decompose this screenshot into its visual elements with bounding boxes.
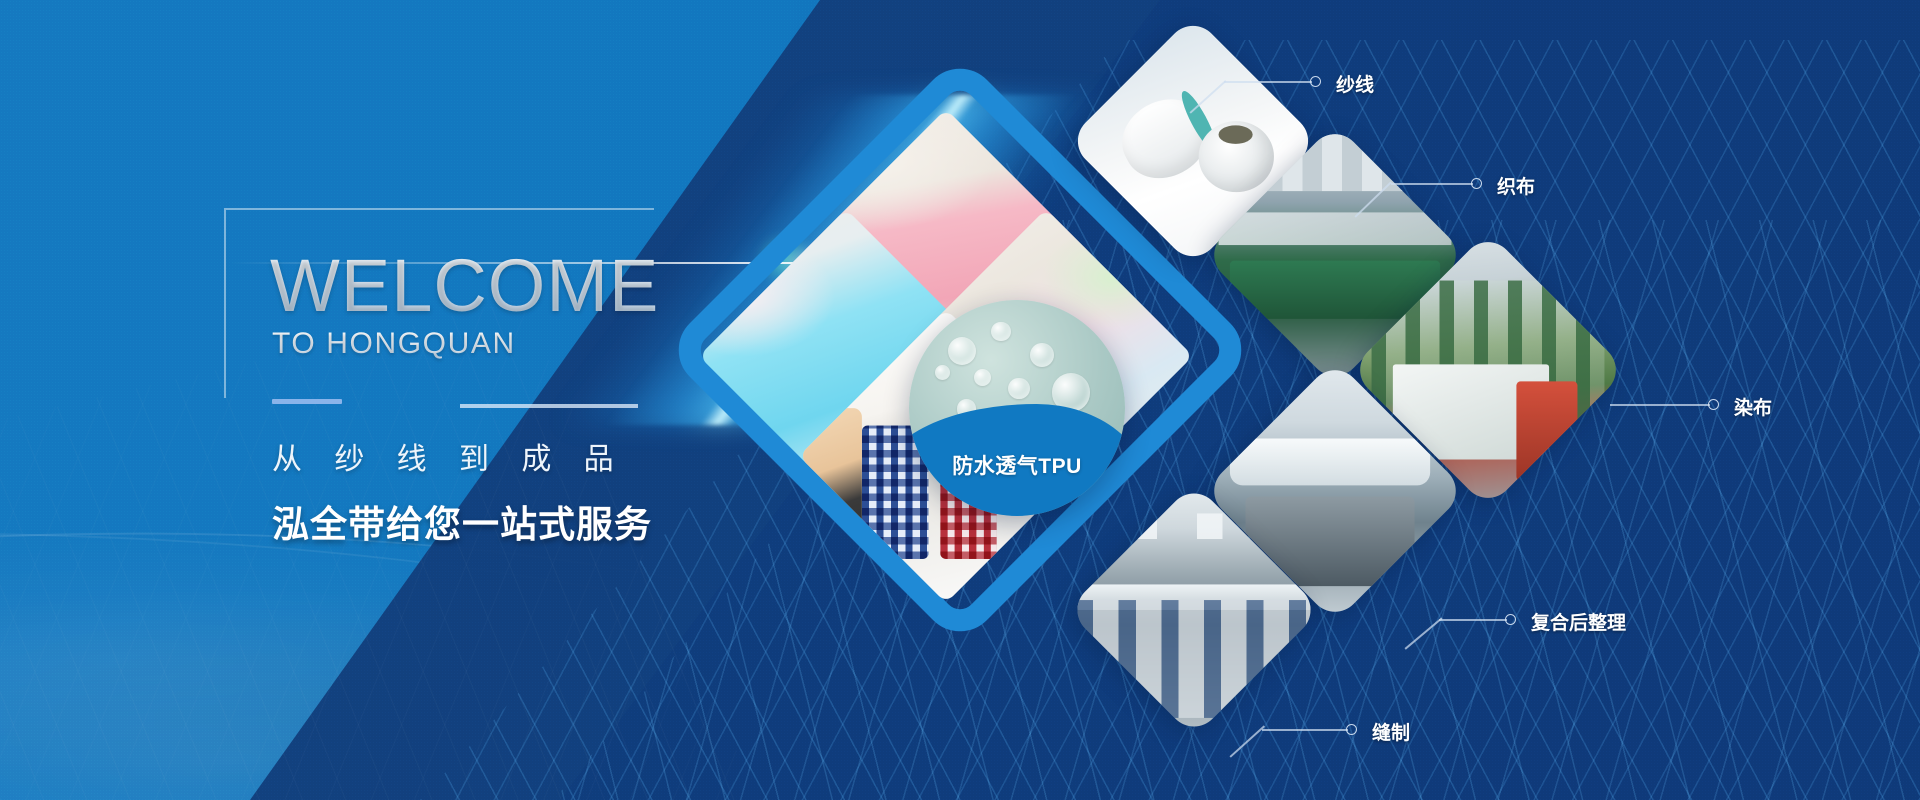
callout-leader-diagonal <box>1354 181 1391 217</box>
divider-long <box>460 404 638 408</box>
callout-label: 缝制 <box>1372 718 1410 745</box>
divider-short <box>272 399 342 404</box>
callout-leader <box>1262 729 1348 731</box>
droplet <box>935 365 950 380</box>
callout-dyeing: 染布 <box>1610 393 1920 443</box>
callout-label: 织布 <box>1497 172 1535 199</box>
callout-lamination: 复合后整理 <box>1405 608 1805 658</box>
callout-leader-diagonal <box>1229 725 1264 757</box>
callout-yarn: 纱线 <box>1190 70 1550 120</box>
laminating-roller <box>1229 438 1430 486</box>
callout-label: 纱线 <box>1336 70 1374 97</box>
droplet <box>1008 378 1030 400</box>
callout-dot <box>1310 76 1321 87</box>
droplet <box>991 322 1010 341</box>
callout-leader <box>1610 404 1710 406</box>
callout-dot <box>1505 614 1516 625</box>
callout-leader <box>1391 183 1473 185</box>
callout-dot <box>1471 178 1482 189</box>
callout-sewing: 缝制 <box>1230 718 1590 768</box>
tpu-badge: 防水透气TPU <box>909 300 1125 516</box>
yarn-ball <box>1198 121 1274 192</box>
callout-label: 染布 <box>1734 393 1772 420</box>
droplet <box>948 337 976 365</box>
callout-weaving: 织布 <box>1355 172 1715 222</box>
corner-bracket <box>224 208 654 398</box>
hero-banner: WELCOME TO HONGQUAN 从 纱 线 到 成 品 泓全带给您一站式… <box>0 0 1920 800</box>
callout-dot <box>1708 399 1719 410</box>
badge-label: 防水透气TPU <box>909 450 1125 480</box>
red-fabric <box>1516 381 1577 481</box>
callout-leader-diagonal <box>1189 80 1226 113</box>
callout-dot <box>1346 724 1357 735</box>
worker-rows <box>1076 600 1311 718</box>
callout-leader-diagonal <box>1405 617 1443 649</box>
callout-leader <box>1224 81 1312 83</box>
callout-label: 复合后整理 <box>1531 608 1626 635</box>
droplet <box>1030 343 1054 367</box>
callout-leader <box>1439 619 1507 621</box>
droplet <box>974 369 991 386</box>
